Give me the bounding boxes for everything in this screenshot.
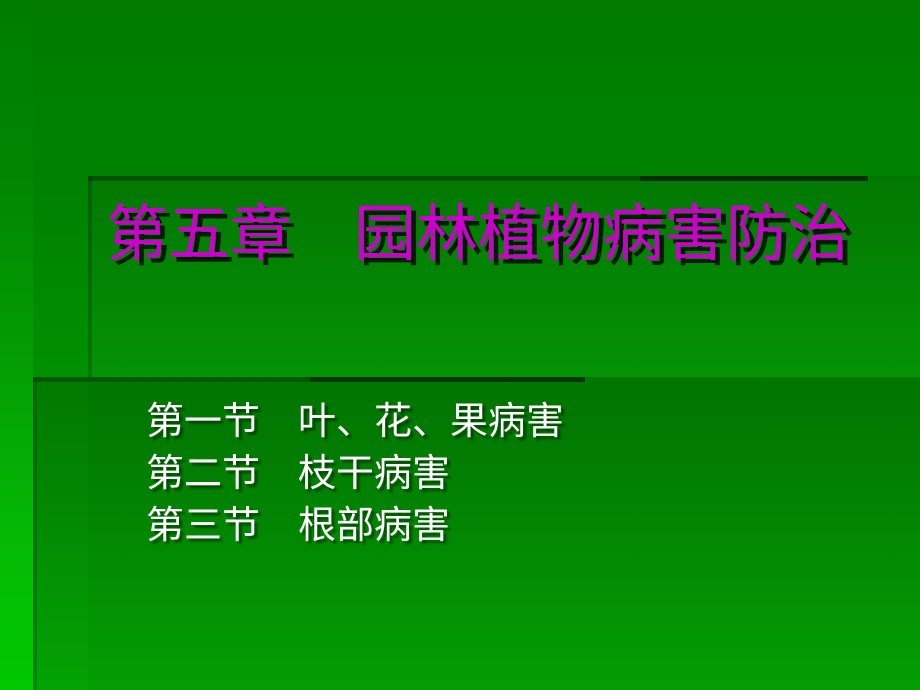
title-panel-top-rule-shadow (640, 176, 868, 181)
presentation-slide: 第五章 园林植物病害防治 第一节 叶、花、果病害 第二节 枝干病害 第三节 根部… (0, 0, 920, 690)
section-list-item: 第三节 根部病害 (146, 500, 866, 552)
section-list: 第一节 叶、花、果病害 第二节 枝干病害 第三节 根部病害 (146, 396, 866, 552)
slide-title: 第五章 园林植物病害防治 (106, 197, 906, 273)
section-list-item: 第一节 叶、花、果病害 (146, 396, 866, 448)
section-list-item: 第二节 枝干病害 (146, 448, 866, 500)
body-panel-left-edge (33, 377, 37, 690)
body-panel-top-rule-shadow (310, 377, 585, 382)
title-panel-left-edge (88, 176, 92, 377)
